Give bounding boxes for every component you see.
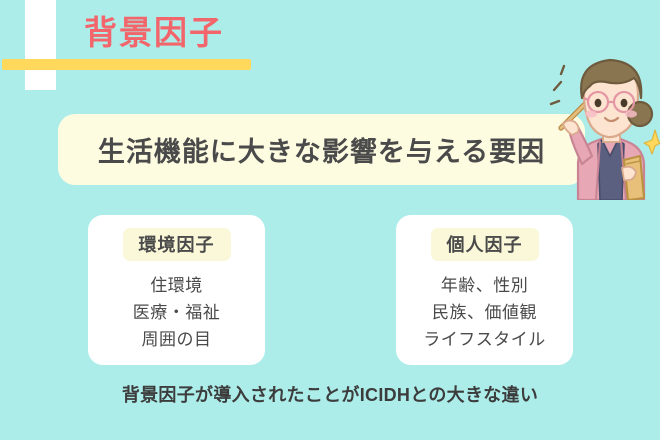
card-line: 医療・福祉: [133, 299, 221, 326]
footer-caption-text: 背景因子が導入されたことがICIDHとの大きな違い: [122, 385, 538, 405]
card-heading-personal: 個人因子: [431, 228, 539, 261]
card-body-personal: 年齢、性別 民族、価値観 ライフスタイル: [423, 272, 546, 353]
card-environmental-factors: 環境因子 住環境 医療・福祉 周囲の目: [88, 215, 265, 365]
card-heading-environmental: 環境因子: [123, 228, 231, 261]
footer-caption-area: 背景因子が導入されたことがICIDHとの大きな違い: [0, 381, 660, 410]
main-statement-banner: 生活機能に大きな影響を与える要因: [58, 114, 585, 185]
card-personal-factors: 個人因子 年齢、性別 民族、価値観 ライフスタイル: [396, 215, 573, 365]
head: [581, 60, 652, 137]
sparkle-left-icon: [551, 66, 564, 104]
card-line: 周囲の目: [133, 326, 221, 353]
card-line: 年齢、性別: [423, 272, 546, 299]
card-body-environmental: 住環境 医療・福祉 周囲の目: [133, 272, 221, 353]
header-white-accent-block: [25, 0, 56, 90]
header-yellow-underline-bar: [2, 59, 251, 70]
footer-caption: 背景因子が導入されたことがICIDHとの大きな違い: [119, 381, 541, 410]
card-line: 住環境: [133, 272, 221, 299]
teacher-illustration: [548, 52, 660, 200]
card-line: 民族、価値観: [423, 299, 546, 326]
main-statement-text: 生活機能に大きな影響を与える要因: [98, 130, 545, 169]
card-line: ライフスタイル: [423, 326, 546, 353]
sparkle-right-icon: [644, 130, 660, 154]
page-title: 背景因子: [84, 12, 224, 54]
slide-canvas: 背景因子 生活機能に大きな影響を与える要因 環境因子 住環境 医療・福祉 周囲の…: [0, 0, 660, 440]
